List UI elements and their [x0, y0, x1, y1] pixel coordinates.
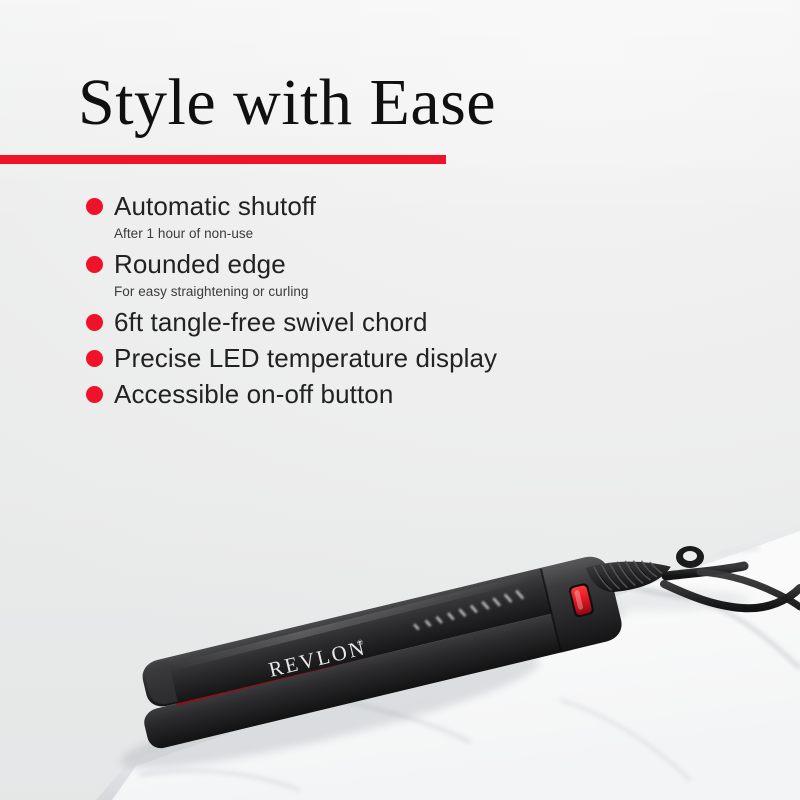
title-divider	[0, 155, 446, 164]
feature-label: 6ft tangle-free swivel chord	[114, 305, 738, 339]
feature-label: Rounded edge	[114, 247, 738, 281]
bullet-icon	[86, 350, 103, 367]
bullet-icon	[86, 386, 103, 403]
list-item: Rounded edge For easy straightening or c…	[78, 247, 738, 303]
feature-sublabel: For easy straightening or curling	[114, 281, 738, 303]
hanging-loop-icon	[676, 546, 704, 568]
bullet-icon	[86, 256, 103, 273]
feature-label: Precise LED temperature display	[114, 341, 738, 375]
feature-label: Automatic shutoff	[114, 189, 738, 223]
bullet-icon	[86, 314, 103, 331]
feature-sublabel: After 1 hour of non-use	[114, 223, 738, 245]
product-feature-graphic: REVLON ®	[0, 0, 800, 800]
feature-label: Accessible on-off button	[114, 377, 738, 411]
list-item: Precise LED temperature display	[78, 341, 738, 375]
list-item: 6ft tangle-free swivel chord	[78, 305, 738, 339]
page-title: Style with Ease	[78, 70, 496, 136]
bullet-icon	[86, 198, 103, 215]
list-item: Automatic shutoff After 1 hour of non-us…	[78, 189, 738, 245]
feature-list: Automatic shutoff After 1 hour of non-us…	[78, 189, 738, 411]
list-item: Accessible on-off button	[78, 377, 738, 411]
